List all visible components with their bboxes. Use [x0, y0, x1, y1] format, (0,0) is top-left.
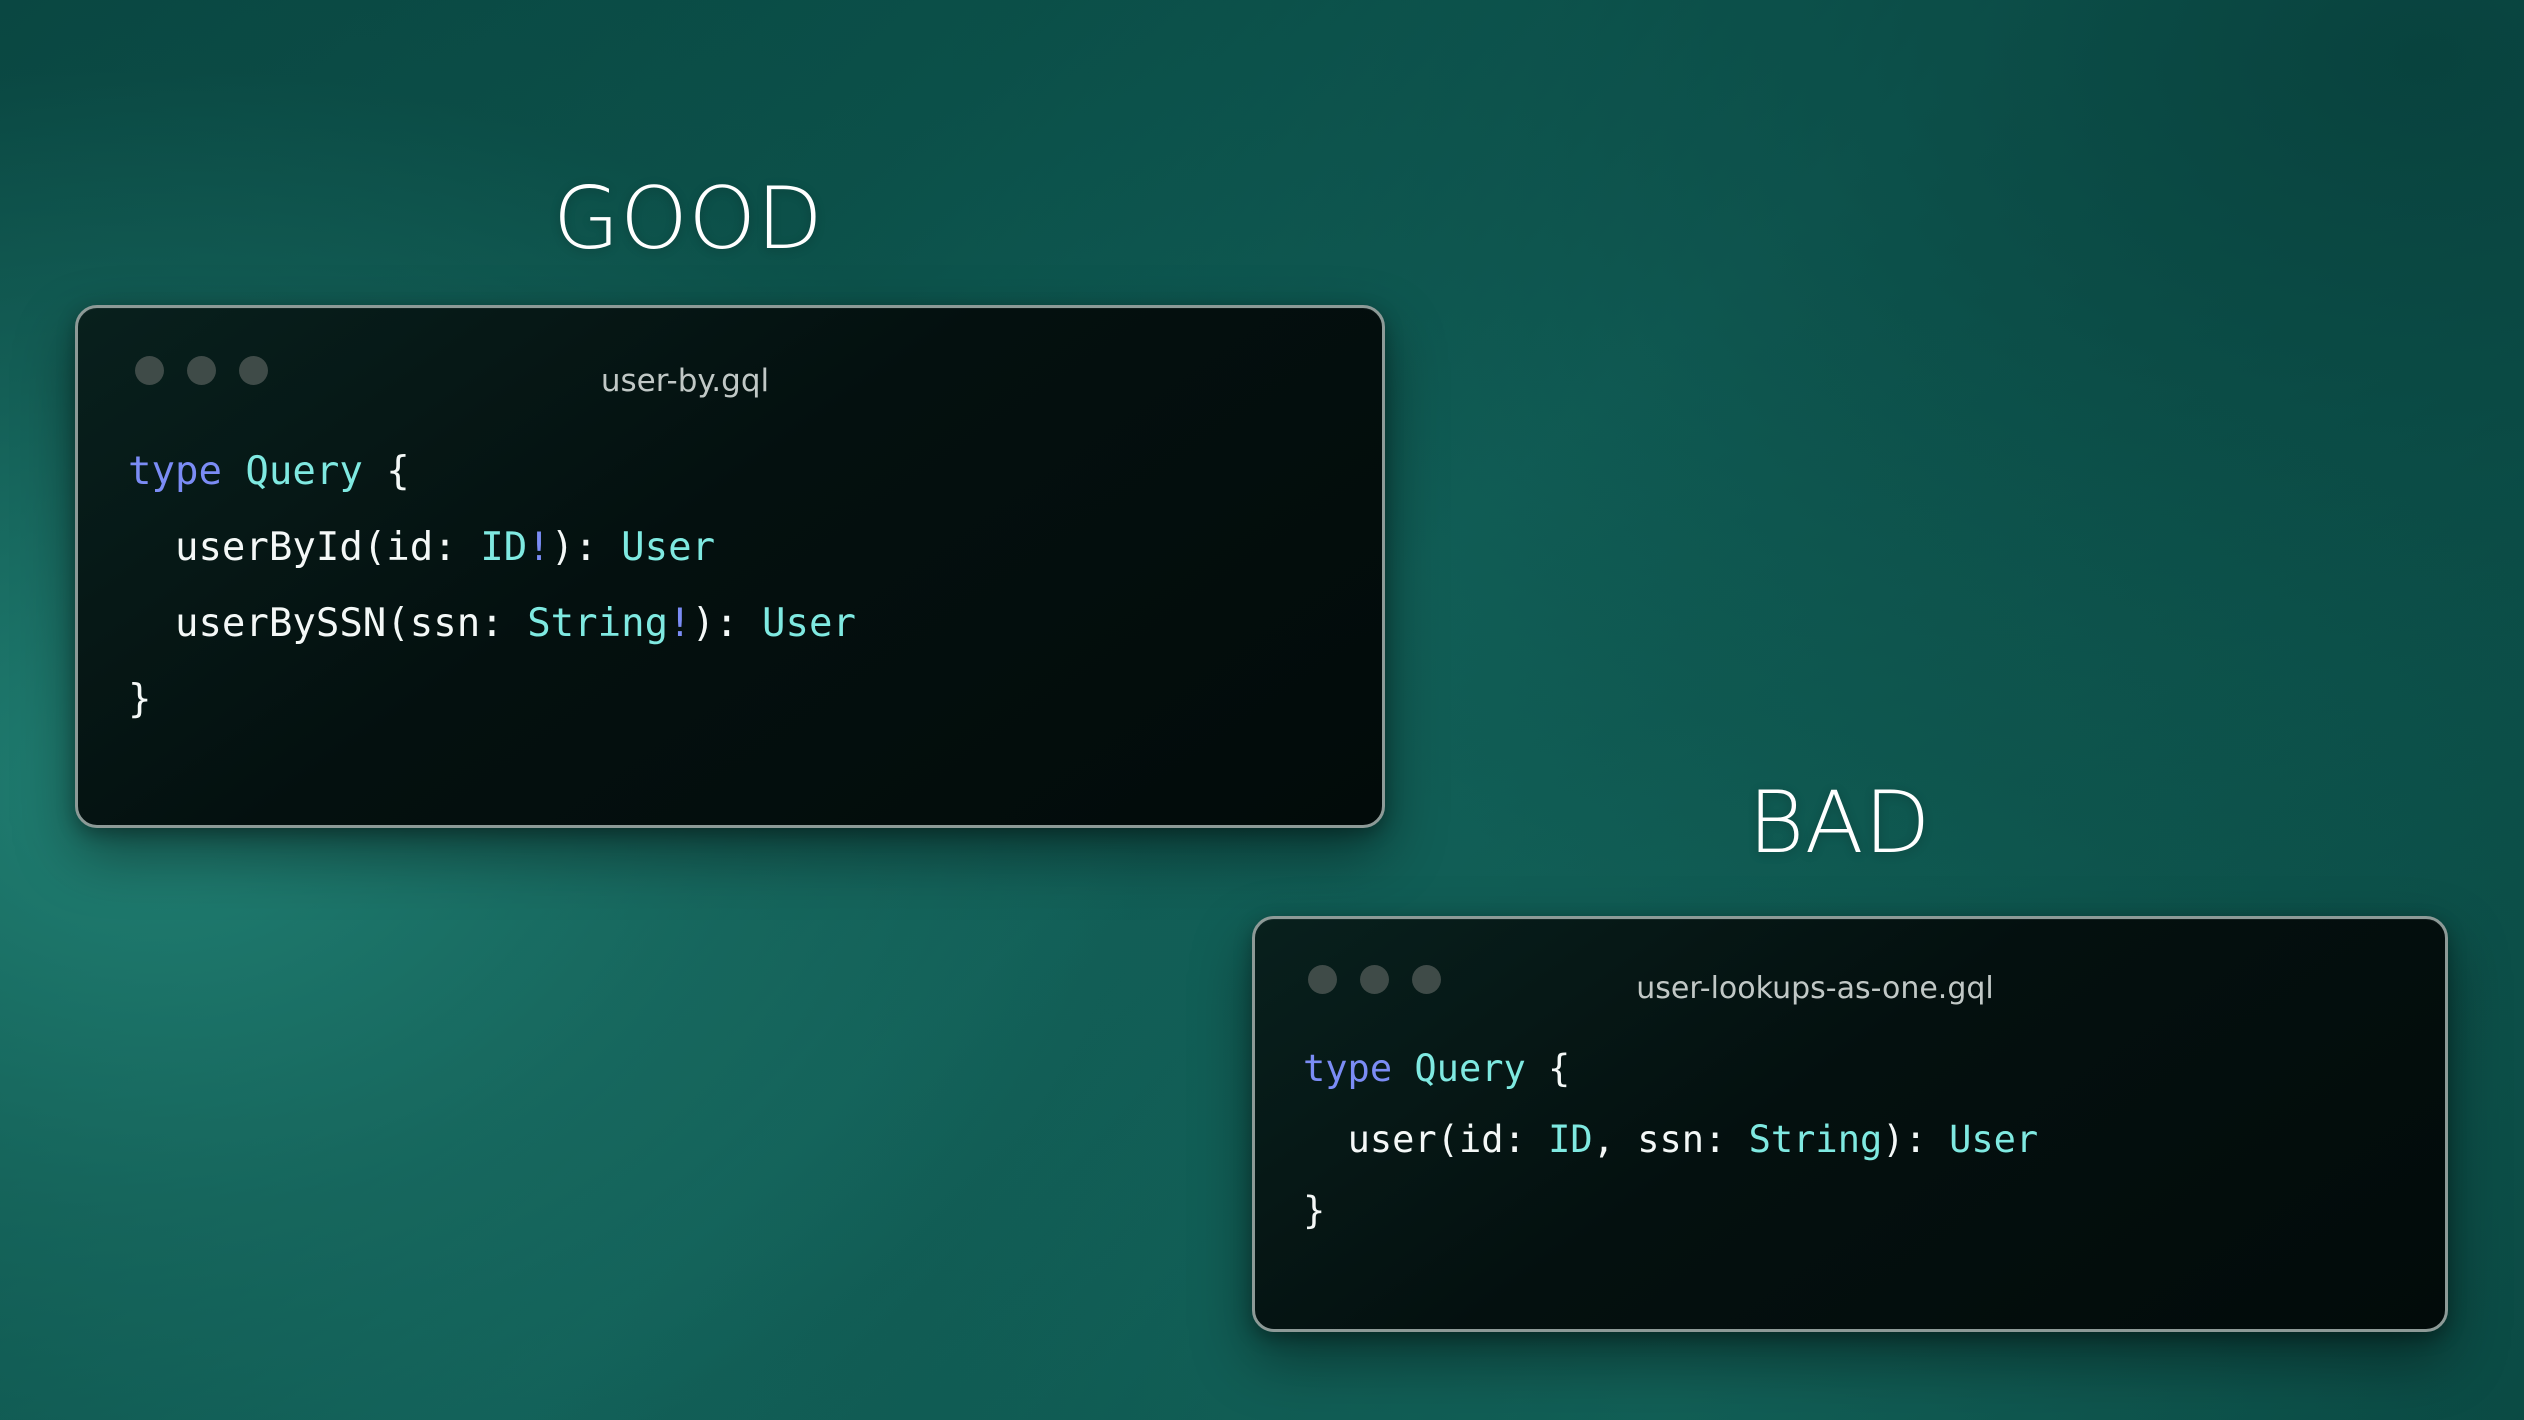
- window-title-good: user-by.gql: [75, 363, 1337, 399]
- code-token: :: [1504, 1118, 1549, 1161]
- code-token: userById: [175, 525, 363, 570]
- code-token: User: [762, 601, 856, 646]
- code-token: !: [668, 601, 691, 646]
- code-line: user(id: ID, ssn: String): User: [1303, 1104, 2445, 1175]
- code-window-good[interactable]: user-by.gql type Query { userById(id: ID…: [75, 305, 1385, 828]
- code-token: String: [527, 601, 668, 646]
- window-titlebar[interactable]: user-lookups-as-one.gql: [1255, 919, 2445, 1019]
- code-window-bad[interactable]: user-lookups-as-one.gql type Query { use…: [1252, 916, 2448, 1332]
- good-example-label: GOOD: [553, 176, 823, 262]
- window-title-bad: user-lookups-as-one.gql: [1252, 971, 2410, 1006]
- code-token: {: [363, 449, 410, 494]
- code-token: ID: [480, 525, 527, 570]
- code-token: [128, 525, 175, 570]
- bad-example-label: BAD: [1748, 780, 1931, 866]
- window-titlebar[interactable]: user-by.gql: [78, 308, 1382, 412]
- code-line: type Query {: [1303, 1033, 2445, 1104]
- code-token: ,: [1593, 1118, 1638, 1161]
- code-token: User: [1949, 1118, 2038, 1161]
- code-block-bad: type Query { user(id: ID, ssn: String): …: [1255, 1019, 2445, 1246]
- code-token: ssn: [1637, 1118, 1704, 1161]
- code-token: User: [621, 525, 715, 570]
- code-token: }: [128, 677, 151, 722]
- code-token: }: [1303, 1189, 1325, 1232]
- code-token: ):: [1882, 1118, 1949, 1161]
- comparison-canvas: GOOD user-by.gql type Query { userById(i…: [0, 0, 2524, 1420]
- code-token: ):: [551, 525, 621, 570]
- code-token: id: [386, 525, 433, 570]
- code-block-good: type Query { userById(id: ID!): User use…: [78, 412, 1382, 738]
- code-token: :: [433, 525, 480, 570]
- code-token: [128, 601, 175, 646]
- code-token: [1303, 1118, 1348, 1161]
- code-token: {: [1526, 1047, 1571, 1090]
- code-token: ID: [1548, 1118, 1593, 1161]
- code-token: Query: [1414, 1047, 1525, 1090]
- code-line: }: [128, 662, 1382, 738]
- code-token: id: [1459, 1118, 1504, 1161]
- code-token: :: [480, 601, 527, 646]
- code-token: type: [1303, 1047, 1392, 1090]
- code-token: ssn: [410, 601, 480, 646]
- code-token: (: [1437, 1118, 1459, 1161]
- code-token: !: [527, 525, 550, 570]
- code-token: Query: [245, 449, 362, 494]
- code-token: [222, 449, 245, 494]
- code-line: userById(id: ID!): User: [128, 510, 1382, 586]
- code-token: type: [128, 449, 222, 494]
- code-token: String: [1749, 1118, 1883, 1161]
- code-token: user: [1348, 1118, 1437, 1161]
- code-line: userBySSN(ssn: String!): User: [128, 586, 1382, 662]
- code-line: }: [1303, 1175, 2445, 1246]
- code-token: :: [1704, 1118, 1749, 1161]
- code-token: (: [363, 525, 386, 570]
- code-token: userBySSN: [175, 601, 386, 646]
- code-line: type Query {: [128, 434, 1382, 510]
- code-token: (: [386, 601, 409, 646]
- code-token: ):: [692, 601, 762, 646]
- code-token: [1392, 1047, 1414, 1090]
